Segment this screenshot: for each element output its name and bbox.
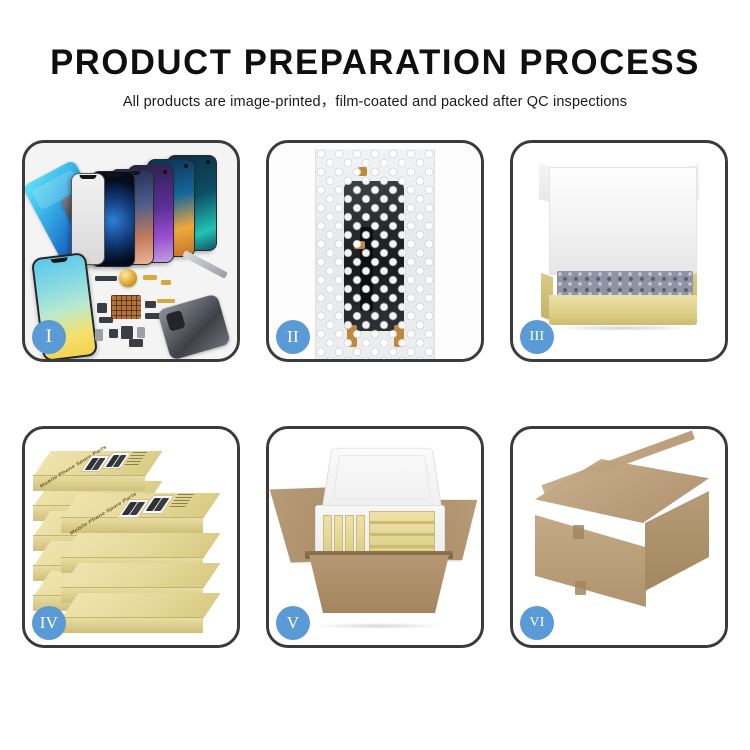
panel-1-badge: I	[32, 320, 66, 354]
box-top	[61, 563, 221, 589]
spare-part-icon	[121, 326, 133, 339]
panel-3-badge: III	[520, 320, 554, 354]
process-panel-3: III	[510, 140, 728, 362]
yellow-pack	[323, 515, 332, 553]
retail-box-stack: Mobile Phone Spare Parts	[33, 447, 233, 637]
glass-panel-icon	[71, 173, 105, 265]
white-foam-sheet-icon	[549, 167, 697, 275]
spare-part-icon	[95, 329, 103, 341]
carton-front	[309, 555, 449, 613]
spare-part-icon	[143, 275, 157, 280]
page-subtitle: All products are image-printed，film-coat…	[0, 91, 750, 113]
box-shadow	[553, 325, 693, 331]
box-front	[61, 617, 203, 633]
panel-4-badge: IV	[32, 606, 66, 640]
process-panel-2: II	[266, 140, 484, 362]
box-top	[61, 593, 221, 619]
camera-punch-icon	[163, 170, 167, 174]
carton-seam	[573, 525, 584, 539]
yellow-pack	[356, 515, 365, 553]
spare-part-icon	[99, 317, 113, 323]
notch-icon	[50, 257, 67, 263]
box-top	[61, 533, 221, 559]
spare-part-icon	[97, 303, 107, 313]
spare-part-icon	[145, 301, 156, 308]
process-panel-grid: I II III	[0, 140, 750, 712]
yellow-pack-seam	[369, 533, 435, 536]
camera-punch-icon	[206, 160, 210, 164]
process-panel-4: Mobile Phone Spare Parts	[22, 426, 240, 648]
spare-part-icon	[137, 327, 145, 338]
yellow-pack	[345, 515, 354, 553]
page-title: PRODUCT PREPARATION PROCESS	[4, 42, 747, 84]
notch-icon	[80, 175, 97, 179]
page-header: PRODUCT PREPARATION PROCESS All products…	[0, 0, 750, 113]
spare-part-icon	[161, 280, 171, 285]
process-panel-5: V	[266, 426, 484, 648]
process-panel-1: I	[22, 140, 240, 362]
yellow-pack-seam	[369, 545, 435, 548]
yellow-box-front-icon	[549, 295, 697, 325]
spare-part-icon	[95, 276, 117, 281]
white-foam-lid-icon	[322, 448, 443, 510]
carton-shadow	[313, 623, 445, 629]
notch-icon	[105, 173, 122, 177]
panel-6-badge: VI	[520, 606, 554, 640]
yellow-pack-seam	[369, 521, 435, 524]
bubble-wrap-bag-icon	[315, 149, 435, 359]
carton-seam	[575, 581, 586, 595]
fanned-phone-screens	[83, 155, 233, 273]
chip-grid-icon	[111, 295, 141, 319]
spare-part-icon	[109, 329, 118, 338]
spare-part-icon	[157, 299, 175, 303]
camera-punch-icon	[184, 164, 188, 168]
panel-2-badge: II	[276, 320, 310, 354]
process-panel-6: VI	[510, 426, 728, 648]
bubble-texture	[316, 149, 434, 359]
gold-component-icon	[119, 269, 137, 287]
panel-5-badge: V	[276, 606, 310, 640]
yellow-pack	[334, 515, 343, 553]
spare-part-icon	[129, 339, 143, 347]
